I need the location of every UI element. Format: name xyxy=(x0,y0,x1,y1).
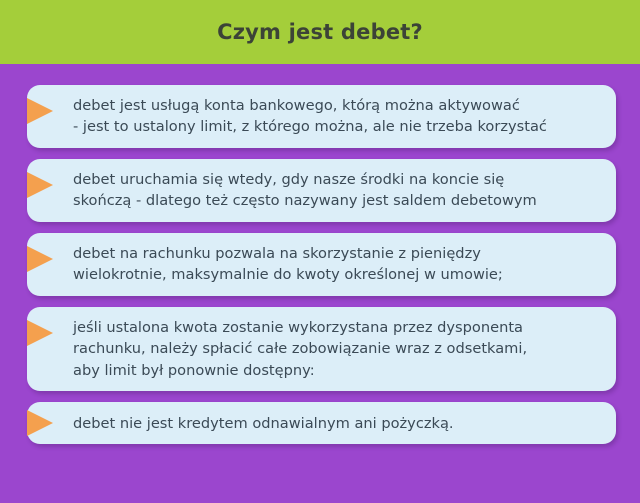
triangle-right-icon xyxy=(27,320,53,346)
list-item-text: debet jest usługą konta bankowego, którą… xyxy=(73,94,604,138)
list-item: debet nie jest kredytem odnawialnym ani … xyxy=(27,402,616,444)
list-item: jeśli ustalona kwota zostanie wykorzysta… xyxy=(27,307,616,391)
bullet-wrap xyxy=(27,94,73,124)
fact-list: debet jest usługą konta bankowego, którą… xyxy=(0,64,640,503)
triangle-right-icon xyxy=(27,246,53,272)
list-item-text: debet nie jest kredytem odnawialnym ani … xyxy=(73,412,604,434)
page-title: Czym jest debet? xyxy=(217,20,423,44)
list-item: debet uruchamia się wtedy, gdy nasze śro… xyxy=(27,159,616,222)
bullet-wrap xyxy=(27,410,73,436)
list-item-text: jeśli ustalona kwota zostanie wykorzysta… xyxy=(73,316,604,381)
list-item: debet jest usługą konta bankowego, którą… xyxy=(27,85,616,148)
list-item-text: debet uruchamia się wtedy, gdy nasze śro… xyxy=(73,168,604,212)
infographic-root: Czym jest debet? debet jest usługą konta… xyxy=(0,0,640,503)
triangle-right-icon xyxy=(27,98,53,124)
list-item: debet na rachunku pozwala na skorzystani… xyxy=(27,233,616,296)
triangle-right-icon xyxy=(27,410,53,436)
triangle-right-icon xyxy=(27,172,53,198)
bullet-wrap xyxy=(27,242,73,272)
list-item-text: debet na rachunku pozwala na skorzystani… xyxy=(73,242,604,286)
header-bar: Czym jest debet? xyxy=(0,0,640,64)
bullet-wrap xyxy=(27,316,73,346)
bullet-wrap xyxy=(27,168,73,198)
